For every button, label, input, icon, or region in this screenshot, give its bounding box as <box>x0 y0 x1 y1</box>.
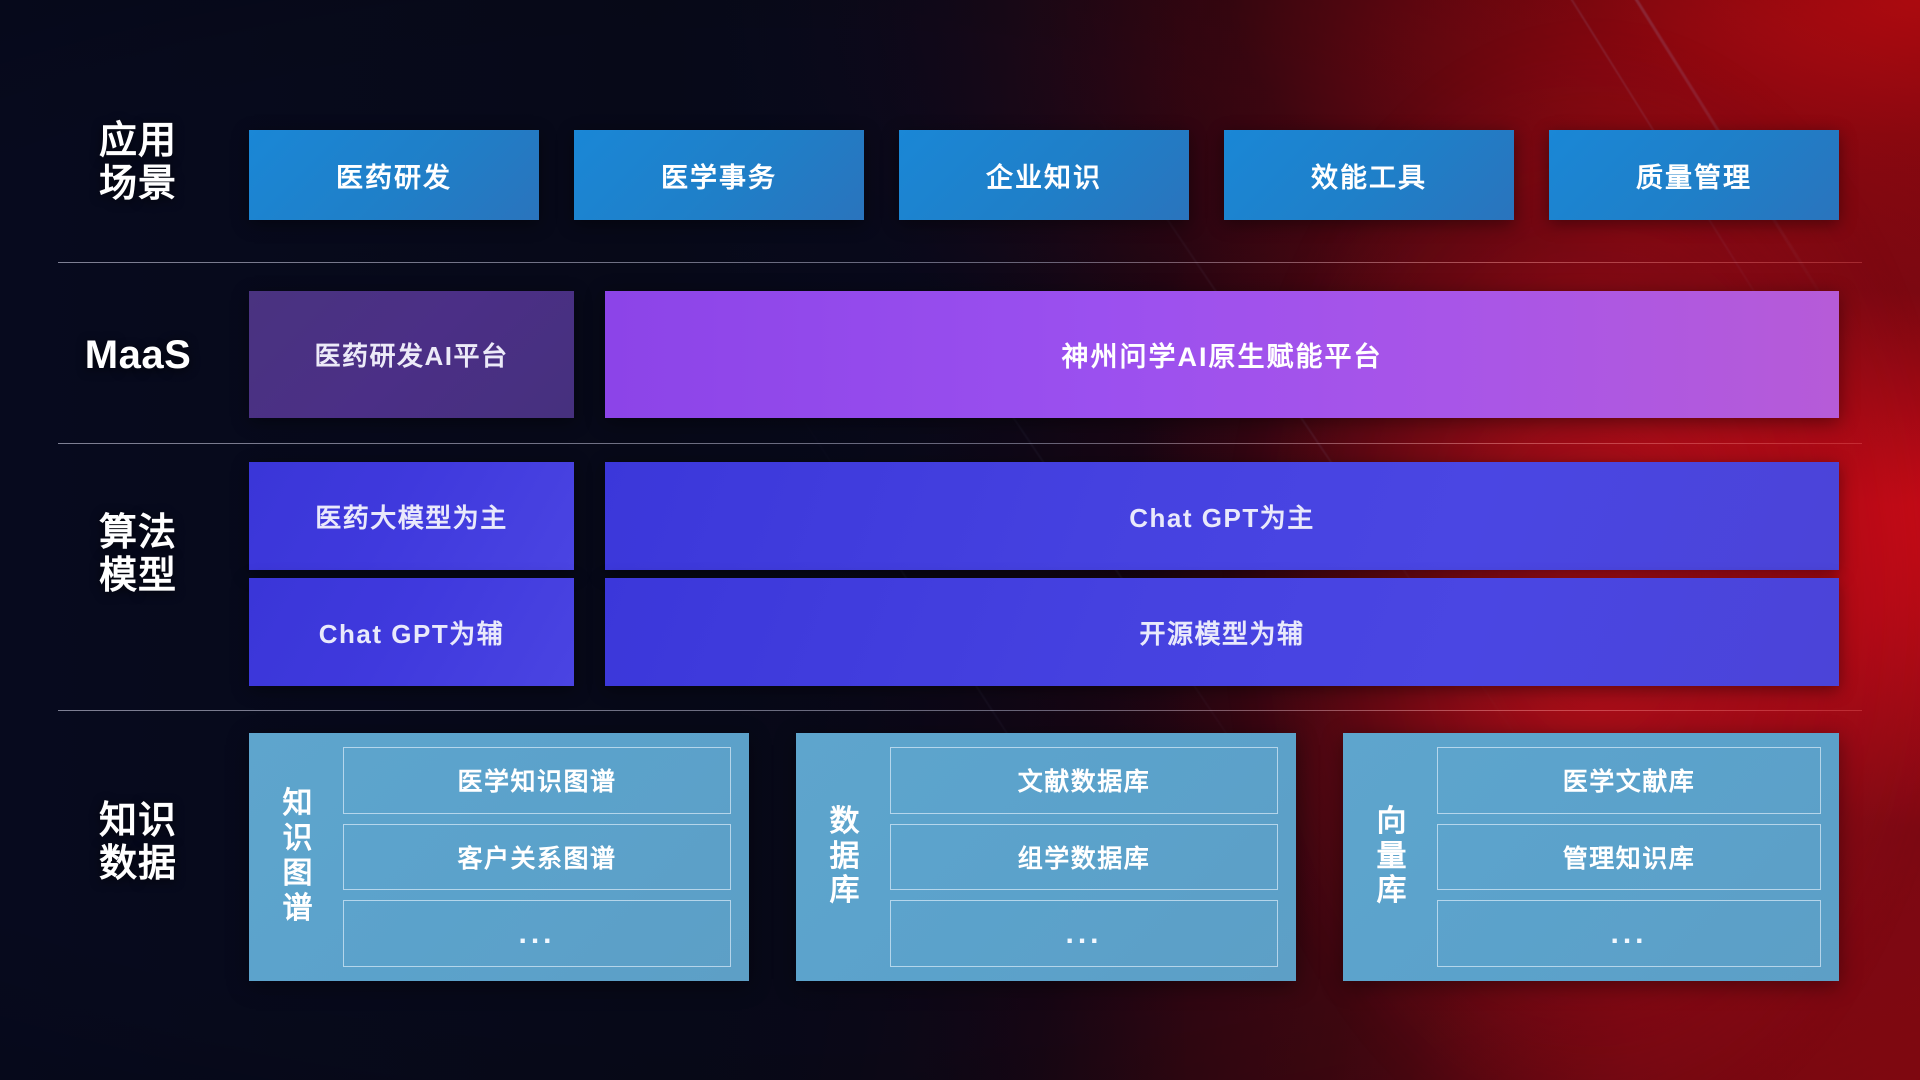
knowledge-panel-items: 医学文献库 管理知识库 ... <box>1437 747 1821 967</box>
knowledge-item-management-knowledge-store[interactable]: 管理知识库 <box>1437 824 1821 891</box>
divider-3 <box>58 710 1862 711</box>
maas-box-shenzhou-wenxue-platform[interactable]: 神州问学AI原生赋能平台 <box>605 291 1839 418</box>
algo-box-opensource-model-secondary[interactable]: 开源模型为辅 <box>605 578 1839 686</box>
row-label-maas: MaaS <box>58 333 218 378</box>
knowledge-item-omics-database[interactable]: 组学数据库 <box>890 824 1278 891</box>
knowledge-panel-title-knowledge-graph: 知 识 图 谱 <box>263 747 333 967</box>
knowledge-item-literature-database[interactable]: 文献数据库 <box>890 747 1278 814</box>
knowledge-item-more[interactable]: ... <box>1437 900 1821 967</box>
app-box-medicine-rd[interactable]: 医药研发 <box>249 130 539 220</box>
algo-box-medicine-large-model-primary[interactable]: 医药大模型为主 <box>249 462 574 570</box>
knowledge-panel-title-vector-store: 向 量 库 <box>1357 747 1427 967</box>
knowledge-item-medical-knowledge-graph[interactable]: 医学知识图谱 <box>343 747 731 814</box>
algo-box-chatgpt-secondary[interactable]: Chat GPT为辅 <box>249 578 574 686</box>
knowledge-panel-title-database: 数 据 库 <box>810 747 880 967</box>
knowledge-item-more[interactable]: ... <box>890 900 1278 967</box>
knowledge-panel-items: 文献数据库 组学数据库 ... <box>890 747 1278 967</box>
app-box-quality-management[interactable]: 质量管理 <box>1549 130 1839 220</box>
divider-1 <box>58 262 1862 263</box>
knowledge-item-more[interactable]: ... <box>343 900 731 967</box>
knowledge-item-medical-literature-store[interactable]: 医学文献库 <box>1437 747 1821 814</box>
row-label-algorithm-models: 算法 模型 <box>58 512 218 597</box>
knowledge-panel-items: 医学知识图谱 客户关系图谱 ... <box>343 747 731 967</box>
app-box-efficiency-tools[interactable]: 效能工具 <box>1224 130 1514 220</box>
row-label-application-scenarios: 应用 场景 <box>58 120 218 205</box>
knowledge-item-customer-relation-graph[interactable]: 客户关系图谱 <box>343 824 731 891</box>
knowledge-panel-database[interactable]: 数 据 库 文献数据库 组学数据库 ... <box>796 733 1296 981</box>
architecture-diagram: 应用 场景 医药研发 医学事务 企业知识 效能工具 质量管理 MaaS 医药研发… <box>0 0 1920 1080</box>
maas-box-medicine-rd-ai-platform[interactable]: 医药研发AI平台 <box>249 291 574 418</box>
knowledge-panel-vector-store[interactable]: 向 量 库 医学文献库 管理知识库 ... <box>1343 733 1839 981</box>
app-box-medical-affairs[interactable]: 医学事务 <box>574 130 864 220</box>
knowledge-panel-knowledge-graph[interactable]: 知 识 图 谱 医学知识图谱 客户关系图谱 ... <box>249 733 749 981</box>
row-label-knowledge-data: 知识 数据 <box>58 800 218 885</box>
divider-2 <box>58 443 1862 444</box>
algo-box-chatgpt-primary[interactable]: Chat GPT为主 <box>605 462 1839 570</box>
app-box-enterprise-knowledge[interactable]: 企业知识 <box>899 130 1189 220</box>
